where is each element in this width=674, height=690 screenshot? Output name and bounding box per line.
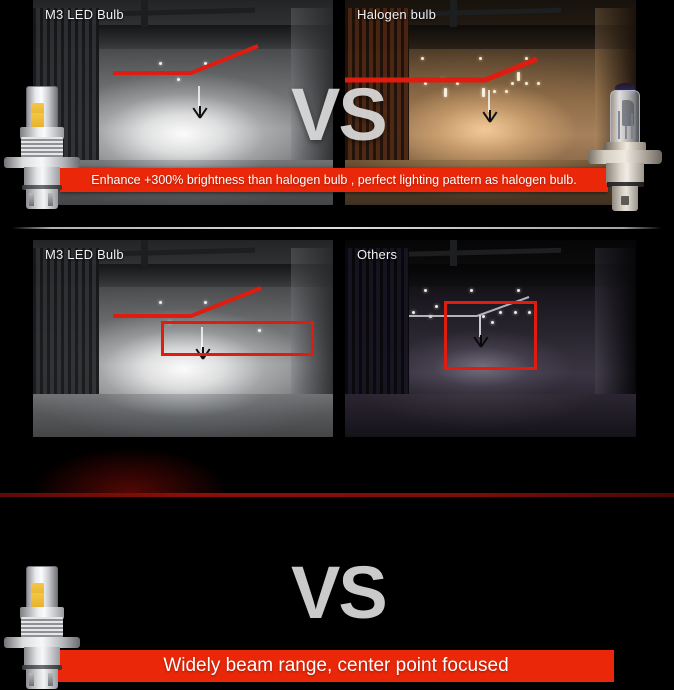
- caption-text-bottom: Widely beam range, center point focused: [163, 655, 508, 677]
- led-bulb-icon: [2, 86, 82, 210]
- halogen-bulb-icon: [588, 82, 662, 212]
- led-heatsink-fins: [21, 137, 63, 158]
- panel-others-bottom[interactable]: Others: [345, 240, 636, 437]
- comparison-stage: M3 LED Bulb: [0, 0, 674, 497]
- panel-label-m3-led: M3 LED Bulb: [45, 7, 124, 22]
- vs-label-bottom: VS: [291, 556, 386, 630]
- panel-label-m3-led: M3 LED Bulb: [45, 247, 124, 262]
- halogen-filament: [618, 111, 620, 140]
- comparison-block-bottom: M3 LED Bulb: [0, 240, 674, 455]
- led-pin: [48, 193, 53, 207]
- scene-others-beam: [345, 240, 636, 437]
- halogen-base: [606, 163, 644, 184]
- caption-text-top: Enhance +300% brightness than halogen bu…: [91, 173, 576, 187]
- focus-highlight-box: [161, 321, 314, 356]
- halogen-filament: [631, 113, 633, 139]
- bottom-red-edge: [0, 493, 674, 497]
- halogen-terminal: [621, 196, 630, 205]
- caption-banner-top: Enhance +300% brightness than halogen bu…: [60, 168, 608, 192]
- comparison-block-top: M3 LED Bulb: [0, 0, 674, 228]
- panel-label-halogen: Halogen bulb: [357, 7, 436, 22]
- caption-banner-bottom: Widely beam range, center point focused: [58, 650, 614, 682]
- led-pin: [29, 673, 34, 687]
- scene-led-beam-bottom: [33, 240, 333, 437]
- led-pin: [29, 193, 34, 207]
- led-pin: [48, 673, 53, 687]
- led-bulb-icon: [2, 566, 82, 690]
- panel-label-others: Others: [357, 247, 397, 262]
- panel-m3-led-bottom[interactable]: M3 LED Bulb: [33, 240, 333, 437]
- section-divider: [12, 227, 662, 229]
- focus-highlight-box: [444, 301, 537, 370]
- halogen-filament: [625, 116, 627, 139]
- led-heatsink-fins: [21, 617, 63, 638]
